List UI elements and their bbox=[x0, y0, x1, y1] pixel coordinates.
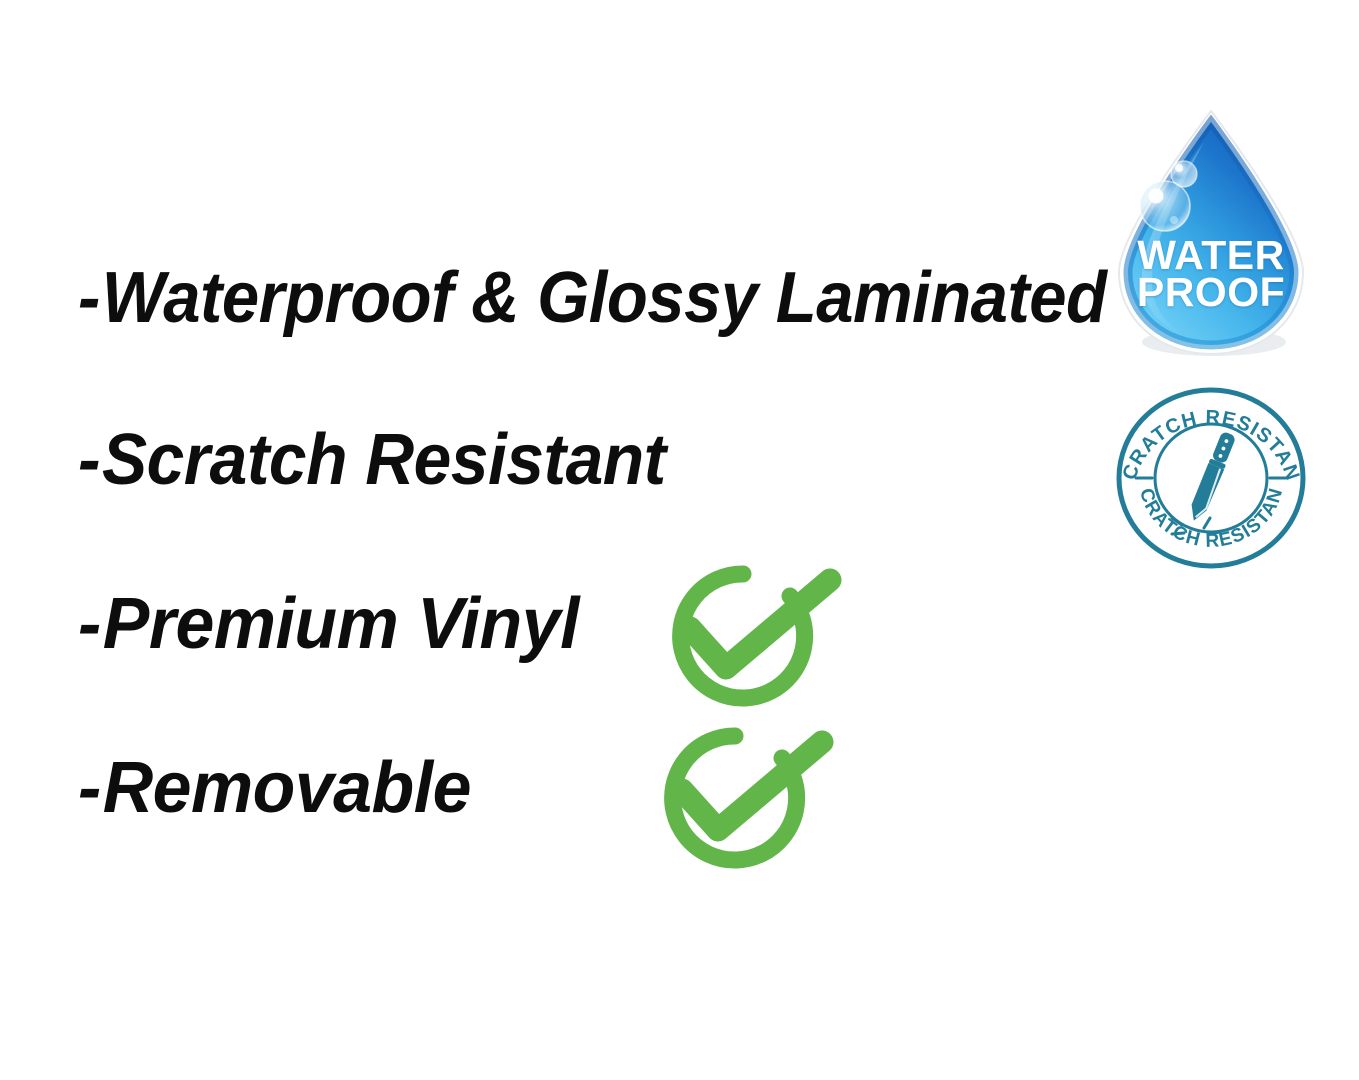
water-droplet-icon bbox=[1104, 110, 1318, 360]
feature-line-scratch-resistant: -Scratch Resistant bbox=[78, 424, 666, 496]
knife-icon bbox=[1186, 430, 1237, 524]
check-circle-icon bbox=[630, 718, 842, 878]
product-features-graphic: -Waterproof & Glossy Laminated -Scratch … bbox=[0, 0, 1359, 1080]
check-circle-icon bbox=[638, 556, 850, 716]
feature-line-premium-vinyl: -Premium Vinyl bbox=[78, 588, 579, 660]
feature-line-removable: -Removable bbox=[78, 752, 471, 824]
check-circle-icon-2 bbox=[630, 718, 842, 878]
feature-label: Premium Vinyl bbox=[103, 584, 579, 664]
feature-label: Scratch Resistant bbox=[102, 420, 666, 500]
scratch-resistant-badge: SCRATCH RESISTANT SCRATCH RESISTANT bbox=[1112, 386, 1310, 570]
waterproof-badge: WATER PROOF bbox=[1104, 110, 1318, 360]
feature-bullet-dash: - bbox=[78, 752, 101, 824]
feature-line-waterproof: -Waterproof & Glossy Laminated bbox=[78, 262, 1106, 334]
feature-label: Removable bbox=[103, 748, 471, 828]
feature-label: Waterproof & Glossy Laminated bbox=[102, 258, 1107, 338]
feature-bullet-dash: - bbox=[78, 424, 100, 496]
knife-stamp-icon: SCRATCH RESISTANT SCRATCH RESISTANT bbox=[1112, 386, 1310, 570]
feature-bullet-dash: - bbox=[78, 588, 101, 660]
check-circle-icon-1 bbox=[638, 556, 850, 716]
feature-bullet-dash: - bbox=[78, 262, 100, 334]
